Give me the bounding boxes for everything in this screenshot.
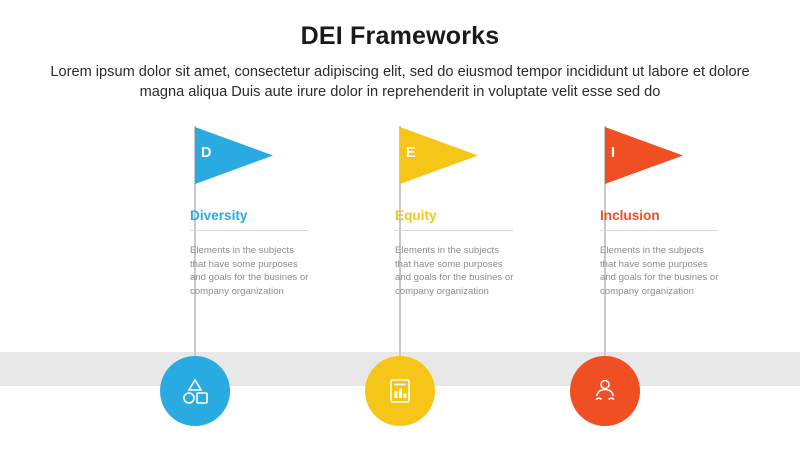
- flag-letter: D: [201, 145, 211, 161]
- block-title: Equity: [395, 208, 437, 223]
- chart-document-icon: [380, 371, 420, 411]
- block-description: Elements in the subjects that have some …: [395, 244, 515, 298]
- block-description: Elements in the subjects that have some …: [600, 244, 720, 298]
- flag-letter: E: [406, 145, 416, 161]
- block-title: Inclusion: [600, 208, 660, 223]
- framework-column-diversity: D Diversity Elements in the subjects tha…: [160, 118, 390, 418]
- infographic-canvas: DEI Frameworks Lorem ipsum dolor sit ame…: [0, 0, 800, 450]
- flag-icon: D: [195, 127, 273, 184]
- title-underline: [190, 230, 308, 231]
- framework-column-equity: E Equity Elements in the subjects that h…: [365, 118, 595, 418]
- shapes-icon: [175, 371, 215, 411]
- flag-icon: I: [605, 127, 683, 184]
- people-care-icon: [585, 371, 625, 411]
- badge-circle-diversity[interactable]: [160, 356, 230, 426]
- flag-letter: I: [611, 145, 615, 161]
- badge-circle-inclusion[interactable]: [570, 356, 640, 426]
- title-underline: [395, 230, 513, 231]
- title-underline: [600, 230, 718, 231]
- page-title: DEI Frameworks: [0, 22, 800, 51]
- block-title: Diversity: [190, 208, 247, 223]
- badge-circle-equity[interactable]: [365, 356, 435, 426]
- framework-column-inclusion: I Inclusion Elements in the subjects tha…: [570, 118, 800, 418]
- flag-icon: E: [400, 127, 478, 184]
- page-subtitle: Lorem ipsum dolor sit amet, consectetur …: [30, 62, 770, 102]
- block-description: Elements in the subjects that have some …: [190, 244, 310, 298]
